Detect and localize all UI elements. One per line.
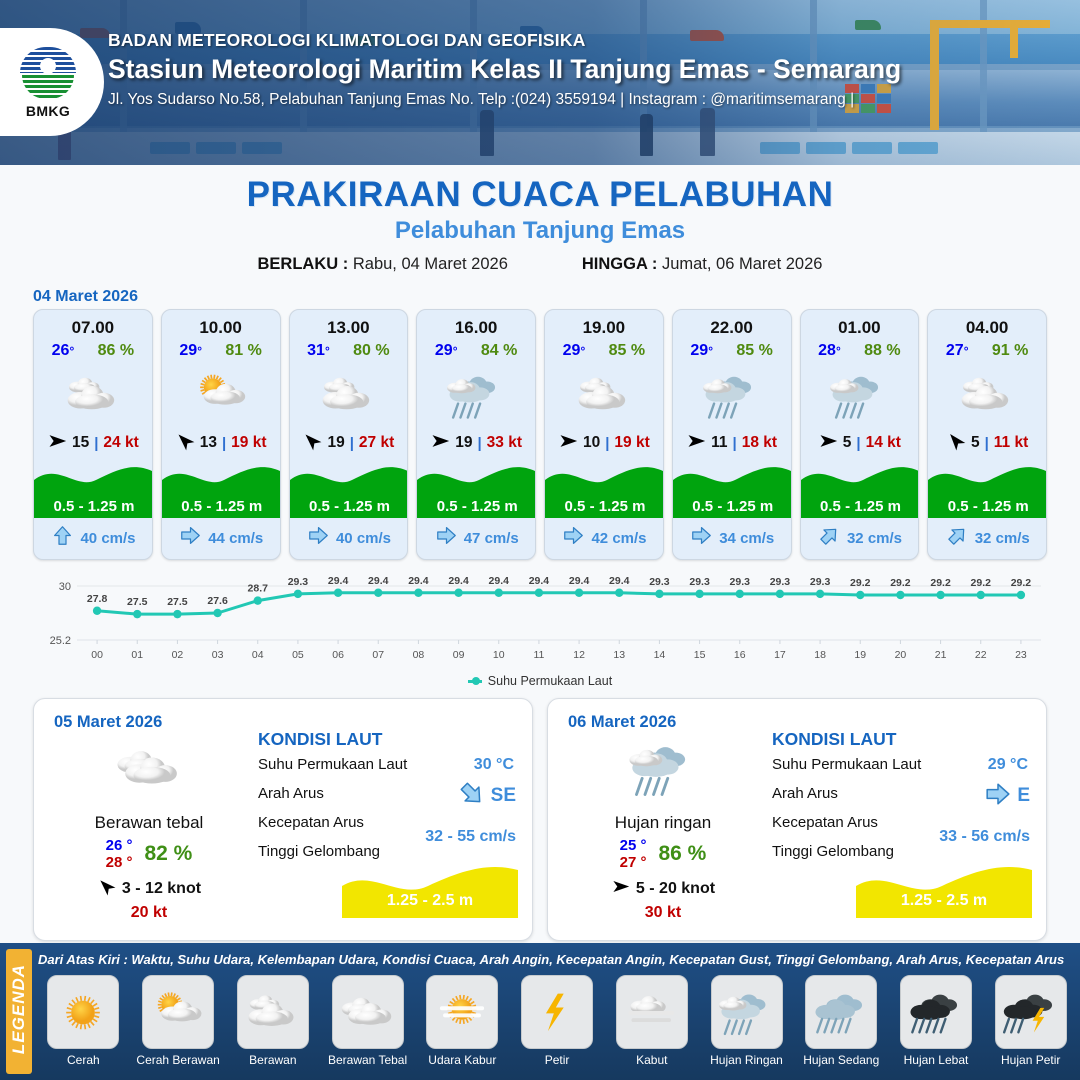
card-current-speed: 32 cm/s — [847, 530, 902, 547]
card-humidity: 86 % — [98, 342, 134, 360]
panel-wave-label: Tinggi Gelombang — [772, 843, 894, 860]
hourly-forecast-row: 07.00 26° 86 % — [0, 309, 1080, 560]
panel-date: 05 Maret 2026 — [54, 713, 162, 732]
card-current-row: 40 cm/s — [290, 523, 409, 553]
legend-icon-hujan-petir — [995, 975, 1067, 1049]
current-direction-arrow-icon — [947, 525, 968, 551]
svg-text:29.3: 29.3 — [288, 576, 309, 588]
legend-item-label: Hujan Ringan — [710, 1053, 783, 1067]
card-time: 19.00 — [545, 318, 663, 338]
panel-summary: Hujan ringan 25 ° 27 ° 86 % 5 - 20 knot … — [558, 737, 768, 922]
panel-gust: 20 kt — [44, 904, 254, 922]
card-wind-speed: 10 — [583, 434, 600, 452]
svg-text:29.2: 29.2 — [930, 577, 951, 589]
legend-note: Dari Atas Kiri : Waktu, Suhu Udara, Kele… — [38, 952, 1064, 967]
card-wind-speed: 5 — [843, 434, 852, 452]
wind-direction-arrow-icon — [686, 431, 706, 456]
svg-text:29.2: 29.2 — [850, 577, 871, 589]
legend-icon-cerah — [47, 975, 119, 1049]
svg-text:21: 21 — [935, 649, 947, 661]
panel-condition: Hujan ringan — [558, 813, 768, 833]
card-humidity: 84 % — [481, 342, 517, 360]
legend-item-label: Hujan Lebat — [904, 1053, 969, 1067]
legend-icon-berawan-tebal — [332, 975, 404, 1049]
card-wave-height: 0.5 - 1.25 m — [545, 498, 664, 515]
card-wind-speed: 11 — [711, 434, 727, 452]
legend-item-label: Udara Kabur — [428, 1053, 496, 1067]
card-gust: 19 kt — [231, 434, 266, 452]
panel-humidity: 82 % — [144, 842, 192, 866]
card-wind-row: 13 | 19 kt — [162, 428, 280, 458]
card-current-row: 42 cm/s — [545, 523, 664, 553]
card-wind-row: 11 | 18 kt — [673, 428, 791, 458]
card-time: 10.00 — [162, 318, 280, 338]
card-wind-separator: | — [733, 435, 737, 452]
card-temperature: 31° — [307, 342, 330, 360]
card-gust: 33 kt — [487, 434, 522, 452]
card-humidity: 80 % — [353, 342, 389, 360]
svg-text:02: 02 — [172, 649, 184, 661]
card-wind-separator: | — [222, 435, 226, 452]
agency-name: BADAN METEOROLOGI KLIMATOLOGI DAN GEOFIS… — [108, 30, 1048, 51]
page-title: PRAKIRAAN CUACA PELABUHAN — [0, 175, 1080, 215]
svg-text:18: 18 — [814, 649, 826, 661]
svg-text:29.4: 29.4 — [408, 575, 429, 587]
current-direction-arrow-icon — [180, 525, 201, 551]
legend-item: Cerah Berawan — [133, 975, 224, 1067]
current-direction-arrow-icon — [308, 525, 329, 551]
forecast-card: 13.00 31° 80 % — [289, 309, 409, 560]
panel-temp-min: 25 ° — [620, 837, 647, 854]
panel-summary: Berawan tebal 26 ° 28 ° 82 % 3 - 12 knot… — [44, 737, 254, 922]
svg-text:16: 16 — [734, 649, 746, 661]
svg-text:00: 00 — [91, 649, 103, 661]
card-current-row: 40 cm/s — [34, 523, 153, 553]
svg-text:09: 09 — [453, 649, 465, 661]
panel-current-speed-label: Kecepatan Arus — [772, 814, 878, 831]
card-current-row: 32 cm/s — [801, 523, 920, 553]
card-gust: 18 kt — [742, 434, 777, 452]
card-temperature: 27° — [946, 342, 969, 360]
card-weather-icon-hujan-ringan — [417, 364, 535, 426]
svg-text:03: 03 — [212, 649, 224, 661]
forecast-card: 19.00 29° 85 % — [544, 309, 664, 560]
sst-chart-svg: 3025.20001020304050607080910111213141516… — [33, 570, 1047, 668]
card-wind-speed: 19 — [327, 434, 344, 452]
svg-text:29.4: 29.4 — [609, 575, 630, 587]
chart-legend-label: Suhu Permukaan Laut — [488, 674, 612, 688]
panel-wave-row: Tinggi Gelombang 1.25 - 2.5 m — [772, 843, 1034, 872]
svg-text:27.5: 27.5 — [167, 596, 188, 608]
panel-current-dir-value: E — [1017, 785, 1030, 807]
legend-section: LEGENDA Dari Atas Kiri : Waktu, Suhu Uda… — [0, 943, 1080, 1080]
legend-item: Hujan Ringan — [701, 975, 792, 1067]
legend-icon-udara-kabur — [426, 975, 498, 1049]
panel-section-title: KONDISI LAUT — [772, 729, 1034, 750]
panel-temp-min: 26 ° — [106, 837, 133, 854]
legend-item-label: Cerah — [67, 1053, 100, 1067]
panel-current-speed-label: Kecepatan Arus — [258, 814, 364, 831]
svg-text:15: 15 — [694, 649, 706, 661]
svg-text:07: 07 — [372, 649, 384, 661]
station-address: Jl. Yos Sudarso No.58, Pelabuhan Tanjung… — [108, 91, 1048, 109]
legend-item: Berawan Tebal — [322, 975, 413, 1067]
svg-text:01: 01 — [131, 649, 143, 661]
svg-text:11: 11 — [533, 649, 544, 661]
panel-condition: Berawan tebal — [44, 813, 254, 833]
header-text-block: BADAN METEOROLOGI KLIMATOLOGI DAN GEOFIS… — [108, 30, 1048, 109]
current-direction-arrow-icon — [563, 525, 584, 551]
daily-forecast-panel: 05 Maret 2026 — [33, 698, 533, 941]
panel-weather-icon-berawan-tebal — [44, 737, 254, 799]
svg-text:29.4: 29.4 — [529, 575, 550, 587]
card-wind-separator: | — [477, 435, 481, 452]
svg-text:29.2: 29.2 — [890, 577, 911, 589]
panel-section-title: KONDISI LAUT — [258, 729, 520, 750]
legend-item-label: Kabut — [636, 1053, 667, 1067]
page-subtitle: Pelabuhan Tanjung Emas — [0, 217, 1080, 245]
legend-icon-hujan-lebat — [900, 975, 972, 1049]
legend-item-label: Cerah Berawan — [136, 1053, 219, 1067]
panel-wave-label: Tinggi Gelombang — [258, 843, 380, 860]
bmkg-logo: BMKG — [0, 28, 104, 136]
card-humidity: 91 % — [992, 342, 1028, 360]
panel-date: 06 Maret 2026 — [568, 713, 676, 732]
forecast-card: 07.00 26° 86 % — [33, 309, 153, 560]
svg-text:04: 04 — [252, 649, 264, 661]
wind-direction-arrow-icon — [175, 431, 195, 456]
svg-text:14: 14 — [654, 649, 666, 661]
current-direction-arrow-icon — [985, 781, 1011, 811]
card-wind-separator: | — [94, 435, 98, 452]
svg-text:29.3: 29.3 — [649, 576, 670, 588]
card-current-speed: 34 cm/s — [719, 530, 774, 547]
card-weather-icon-hujan-ringan — [801, 364, 919, 426]
panel-wind-row: 3 - 12 knot — [44, 877, 254, 901]
card-temperature: 29° — [435, 342, 458, 360]
card-wave-height: 0.5 - 1.25 m — [801, 498, 920, 515]
svg-text:29.4: 29.4 — [328, 575, 349, 587]
svg-text:25.2: 25.2 — [50, 635, 71, 647]
card-gust: 14 kt — [866, 434, 901, 452]
legend-side-title: LEGENDA — [9, 951, 29, 1067]
card-wind-row: 5 | 11 kt — [928, 428, 1046, 458]
legend-item-label: Berawan Tebal — [328, 1053, 407, 1067]
panel-temp-max: 27 ° — [620, 854, 647, 871]
card-wind-row: 15 | 24 kt — [34, 428, 152, 458]
valid-from: BERLAKU : Rabu, 04 Maret 2026 — [258, 255, 508, 274]
forecast-card: 10.00 29° 81 % — [161, 309, 281, 560]
panel-wave-value: 1.25 - 2.5 m — [856, 892, 1032, 910]
card-gust: 11 kt — [994, 434, 1028, 452]
card-time: 04.00 — [928, 318, 1046, 338]
panel-temp-max: 28 ° — [106, 854, 133, 871]
svg-text:22: 22 — [975, 649, 987, 661]
panel-current-speed-row: Kecepatan Arus 32 - 55 cm/s — [258, 814, 520, 843]
daily-forecast-row: 05 Maret 2026 — [0, 698, 1080, 941]
legend-item: Udara Kabur — [417, 975, 508, 1067]
wind-direction-arrow-icon — [611, 877, 630, 901]
wind-direction-arrow-icon — [430, 431, 450, 456]
legend-icon-berawan — [237, 975, 309, 1049]
card-wind-separator: | — [985, 435, 989, 452]
panel-wind-speed: 3 - 12 knot — [122, 880, 201, 898]
card-wind-speed: 5 — [971, 434, 980, 452]
card-weather-icon-cerah-berawan — [162, 364, 280, 426]
card-temperature: 28° — [818, 342, 841, 360]
card-wind-separator: | — [605, 435, 609, 452]
sst-chart: 3025.20001020304050607080910111213141516… — [33, 570, 1047, 668]
svg-text:20: 20 — [895, 649, 907, 661]
card-time: 16.00 — [417, 318, 535, 338]
svg-text:23: 23 — [1015, 649, 1027, 661]
panel-sst-value: 29 °C — [988, 756, 1028, 774]
legend-item-label: Petir — [545, 1053, 570, 1067]
svg-text:28.7: 28.7 — [248, 583, 269, 595]
card-humidity: 85 % — [736, 342, 772, 360]
card-humidity: 88 % — [864, 342, 900, 360]
panel-current-dir-label: Arah Arus — [772, 785, 838, 802]
svg-text:06: 06 — [332, 649, 344, 661]
panel-wind-speed: 5 - 20 knot — [636, 880, 715, 898]
legend-item-label: Berawan — [249, 1053, 296, 1067]
svg-text:30: 30 — [59, 581, 71, 593]
card-current-speed: 32 cm/s — [975, 530, 1030, 547]
forecast-card: 01.00 28° 88 % — [800, 309, 920, 560]
validity-row: BERLAKU : Rabu, 04 Maret 2026 HINGGA : J… — [0, 255, 1080, 274]
current-direction-arrow-icon — [819, 525, 840, 551]
svg-text:29.2: 29.2 — [1011, 577, 1032, 589]
svg-text:27.6: 27.6 — [207, 595, 228, 607]
card-wind-speed: 19 — [455, 434, 472, 452]
panel-current-dir-row: Arah Arus E — [772, 785, 1034, 814]
legend-icon-cerah-berawan — [142, 975, 214, 1049]
chart-legend: Suhu Permukaan Laut — [0, 674, 1080, 688]
card-wind-separator: | — [856, 435, 860, 452]
panel-current-dir-value: SE — [491, 785, 516, 807]
panel-sea-conditions: KONDISI LAUT Suhu Permukaan Laut 30 °C A… — [258, 729, 520, 872]
card-temperature: 26° — [52, 342, 75, 360]
daily-forecast-panel: 06 Maret 2026 — [547, 698, 1047, 941]
legend-icon-petir — [521, 975, 593, 1049]
legend-item-label: Hujan Petir — [1001, 1053, 1060, 1067]
valid-until-label: HINGGA : — [582, 255, 657, 273]
card-current-speed: 40 cm/s — [336, 530, 391, 547]
card-wave-height: 0.5 - 1.25 m — [673, 498, 792, 515]
card-current-row: 32 cm/s — [928, 523, 1047, 553]
current-direction-arrow-icon — [691, 525, 712, 551]
wind-direction-arrow-icon — [558, 431, 578, 456]
card-time: 01.00 — [801, 318, 919, 338]
svg-text:12: 12 — [573, 649, 585, 661]
card-current-speed: 40 cm/s — [80, 530, 135, 547]
card-current-row: 47 cm/s — [417, 523, 536, 553]
station-name: Stasiun Meteorologi Maritim Kelas II Tan… — [108, 54, 1048, 85]
card-weather-icon-berawan — [545, 364, 663, 426]
card-wind-speed: 13 — [200, 434, 217, 452]
valid-until-value: Jumat, 06 Maret 2026 — [662, 255, 823, 273]
panel-weather-icon-hujan-ringan — [558, 737, 768, 799]
svg-text:17: 17 — [774, 649, 786, 661]
chart-legend-marker — [468, 680, 482, 683]
svg-text:10: 10 — [493, 649, 505, 661]
page-header: BMKG BADAN METEOROLOGI KLIMATOLOGI DAN G… — [0, 0, 1080, 165]
svg-text:29.4: 29.4 — [448, 575, 469, 587]
legend-item: Hujan Petir — [985, 975, 1076, 1067]
panel-humidity: 86 % — [658, 842, 706, 866]
card-wind-row: 19 | 27 kt — [290, 428, 408, 458]
panel-wave-value: 1.25 - 2.5 m — [342, 892, 518, 910]
current-direction-arrow-icon — [52, 525, 73, 551]
svg-text:27.5: 27.5 — [127, 596, 148, 608]
svg-text:29.3: 29.3 — [810, 576, 831, 588]
svg-text:27.8: 27.8 — [87, 593, 108, 605]
panel-wave-row: Tinggi Gelombang 1.25 - 2.5 m — [258, 843, 520, 872]
wind-direction-arrow-icon — [97, 877, 116, 901]
card-time: 13.00 — [290, 318, 408, 338]
legend-item: Hujan Sedang — [796, 975, 887, 1067]
card-wind-separator: | — [350, 435, 354, 452]
legend-item: Hujan Lebat — [891, 975, 982, 1067]
card-temperature: 29° — [179, 342, 202, 360]
svg-text:08: 08 — [413, 649, 425, 661]
panel-sst-label: Suhu Permukaan Laut — [258, 756, 407, 773]
forecast-date-label: 04 Maret 2026 — [33, 288, 1080, 306]
card-gust: 19 kt — [614, 434, 649, 452]
card-wave-height: 0.5 - 1.25 m — [34, 498, 153, 515]
card-temperature: 29° — [690, 342, 713, 360]
card-wind-row: 10 | 19 kt — [545, 428, 663, 458]
svg-text:29.3: 29.3 — [730, 576, 751, 588]
card-gust: 24 kt — [103, 434, 138, 452]
wind-direction-arrow-icon — [946, 431, 966, 456]
legend-icon-hujan-sedang — [805, 975, 877, 1049]
card-time: 22.00 — [673, 318, 791, 338]
panel-sea-conditions: KONDISI LAUT Suhu Permukaan Laut 29 °C A… — [772, 729, 1034, 872]
svg-text:29.3: 29.3 — [770, 576, 791, 588]
card-temperature: 29° — [563, 342, 586, 360]
valid-from-value: Rabu, 04 Maret 2026 — [353, 255, 508, 273]
panel-current-speed-row: Kecepatan Arus 33 - 56 cm/s — [772, 814, 1034, 843]
legend-item: Petir — [512, 975, 603, 1067]
panel-sst-label: Suhu Permukaan Laut — [772, 756, 921, 773]
card-weather-icon-berawan — [928, 364, 1046, 426]
panel-wind-row: 5 - 20 knot — [558, 877, 768, 901]
forecast-card: 16.00 29° 84 % — [416, 309, 536, 560]
svg-text:13: 13 — [613, 649, 625, 661]
wind-direction-arrow-icon — [818, 431, 838, 456]
card-weather-icon-berawan — [290, 364, 408, 426]
card-wind-speed: 15 — [72, 434, 89, 452]
legend-items: Cerah Cerah Berawan — [38, 975, 1076, 1067]
wind-direction-arrow-icon — [302, 431, 322, 456]
card-wave-height: 0.5 - 1.25 m — [162, 498, 281, 515]
panel-current-dir-row: Arah Arus SE — [258, 785, 520, 814]
legend-item: Kabut — [606, 975, 697, 1067]
panel-gust: 30 kt — [558, 904, 768, 922]
card-current-row: 34 cm/s — [673, 523, 792, 553]
legend-item: Berawan — [227, 975, 318, 1067]
bmkg-logo-text: BMKG — [26, 103, 70, 119]
panel-current-dir-label: Arah Arus — [258, 785, 324, 802]
card-weather-icon-berawan — [34, 364, 152, 426]
card-wave-height: 0.5 - 1.25 m — [928, 498, 1047, 515]
svg-text:29.4: 29.4 — [569, 575, 590, 587]
current-direction-arrow-icon — [459, 781, 485, 811]
svg-text:05: 05 — [292, 649, 304, 661]
card-wave-height: 0.5 - 1.25 m — [417, 498, 536, 515]
card-current-row: 44 cm/s — [162, 523, 281, 553]
svg-text:29.2: 29.2 — [971, 577, 992, 589]
valid-from-label: BERLAKU : — [258, 255, 349, 273]
legend-item: Cerah — [38, 975, 129, 1067]
forecast-card: 04.00 27° 91 % — [927, 309, 1047, 560]
current-direction-arrow-icon — [436, 525, 457, 551]
valid-until: HINGGA : Jumat, 06 Maret 2026 — [582, 255, 823, 274]
legend-icon-kabut — [616, 975, 688, 1049]
card-current-speed: 47 cm/s — [464, 530, 519, 547]
svg-text:19: 19 — [854, 649, 866, 661]
card-current-speed: 44 cm/s — [208, 530, 263, 547]
svg-text:29.4: 29.4 — [489, 575, 510, 587]
legend-icon-hujan-ringan — [711, 975, 783, 1049]
legend-item-label: Hujan Sedang — [803, 1053, 879, 1067]
card-time: 07.00 — [34, 318, 152, 338]
card-humidity: 81 % — [225, 342, 261, 360]
card-wind-row: 5 | 14 kt — [801, 428, 919, 458]
card-gust: 27 kt — [359, 434, 394, 452]
card-weather-icon-hujan-ringan — [673, 364, 791, 426]
card-wave-height: 0.5 - 1.25 m — [290, 498, 409, 515]
svg-text:29.3: 29.3 — [689, 576, 710, 588]
page-title-block: PRAKIRAAN CUACA PELABUHAN Pelabuhan Tanj… — [0, 175, 1080, 274]
panel-sst-value: 30 °C — [474, 756, 514, 774]
card-wind-row: 19 | 33 kt — [417, 428, 535, 458]
svg-text:29.4: 29.4 — [368, 575, 389, 587]
legend-side-tab: LEGENDA — [6, 949, 32, 1074]
card-humidity: 85 % — [609, 342, 645, 360]
forecast-card: 22.00 29° 85 % — [672, 309, 792, 560]
wind-direction-arrow-icon — [47, 431, 67, 456]
bmkg-logo-mark — [20, 45, 76, 101]
card-current-speed: 42 cm/s — [591, 530, 646, 547]
